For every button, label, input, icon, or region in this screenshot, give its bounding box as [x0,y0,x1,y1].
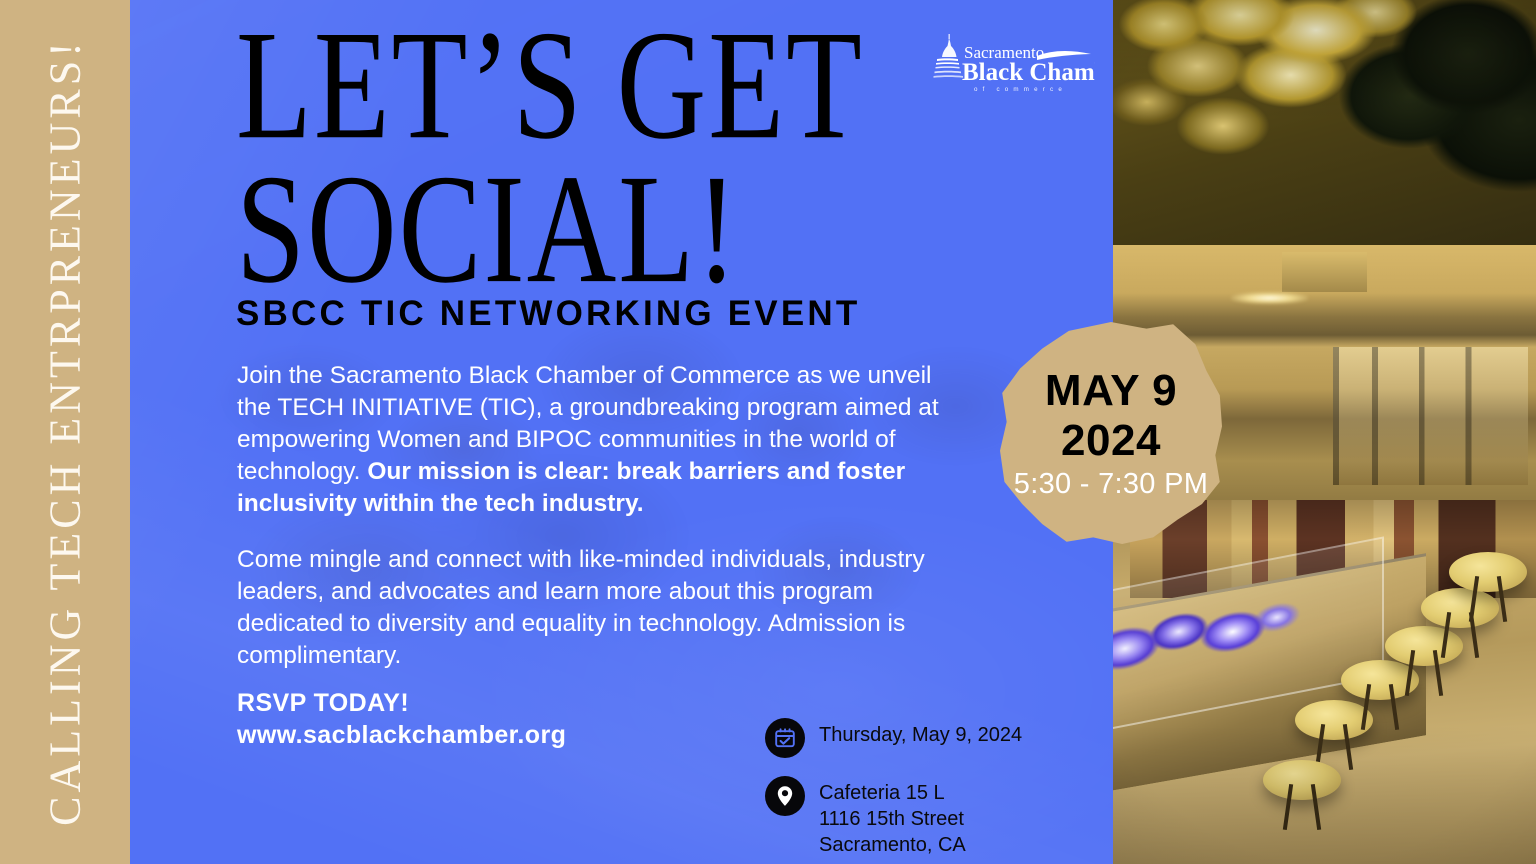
detail-location-line-2: 1116 15th Street [819,808,964,830]
event-details: Thursday, May 9, 2024 Cafeteria 15 L 111… [765,718,1022,864]
photo-stool [1421,588,1499,628]
sidebar-vertical-tagline: CALLING TECH ENTRPRENEURS! [40,38,91,826]
date-badge-date: MAY 9 2024 [1000,366,1222,466]
svg-text:Black Chamber: Black Chamber [962,59,1095,86]
detail-row-location: Cafeteria 15 L 1116 15th Street Sacramen… [765,776,1022,858]
headline-line-2: SOCIAL! [236,158,973,302]
photo-stool [1449,552,1527,592]
rsvp-heading: RSVP TODAY! [237,688,566,719]
flyer-headline: LET’S GET SOCIAL! [236,14,973,301]
body-paragraph-2: Come mingle and connect with like-minded… [237,544,949,672]
calendar-check-icon [765,718,805,758]
date-badge-time: 5:30 - 7:30 PM [1000,468,1222,501]
date-badge-month-day: MAY 9 [1000,366,1222,416]
detail-text-location: Cafeteria 15 L 1116 15th Street Sacramen… [819,776,966,858]
date-badge-year: 2024 [1000,416,1222,466]
main-blue-panel: Sacramento Black Chamber of commerce LET… [130,0,1113,864]
event-flyer: CALLING TECH ENTRPRENEURS! [0,0,1536,864]
event-subtitle: SBCC TIC NETWORKING EVENT [236,294,860,334]
left-sidebar: CALLING TECH ENTRPRENEURS! [0,0,130,864]
date-badge: MAY 9 2024 5:30 - 7:30 PM [1000,322,1222,544]
location-pin-icon [765,776,805,816]
body-paragraph-1: Join the Sacramento Black Chamber of Com… [237,360,949,520]
body-copy: Join the Sacramento Black Chamber of Com… [237,360,949,696]
detail-date-line-1: Thursday, May 9, 2024 [819,724,1022,746]
photo-parapet [1282,252,1367,292]
photo-lamp-glow [1231,292,1307,304]
rsvp-block: RSVP TODAY! www.sacblackchamber.org [237,688,566,752]
detail-text-date: Thursday, May 9, 2024 [819,718,1022,748]
rsvp-website-link[interactable]: www.sacblackchamber.org [237,719,566,752]
detail-location-line-1: Cafeteria 15 L [819,782,945,804]
photo-stool [1385,626,1463,666]
photo-stool [1263,760,1341,800]
svg-text:of commerce: of commerce [974,86,1067,93]
headline-line-1: LET’S GET [236,14,973,158]
detail-row-date: Thursday, May 9, 2024 [765,718,1022,758]
detail-location-line-3: Sacramento, CA [819,834,966,856]
